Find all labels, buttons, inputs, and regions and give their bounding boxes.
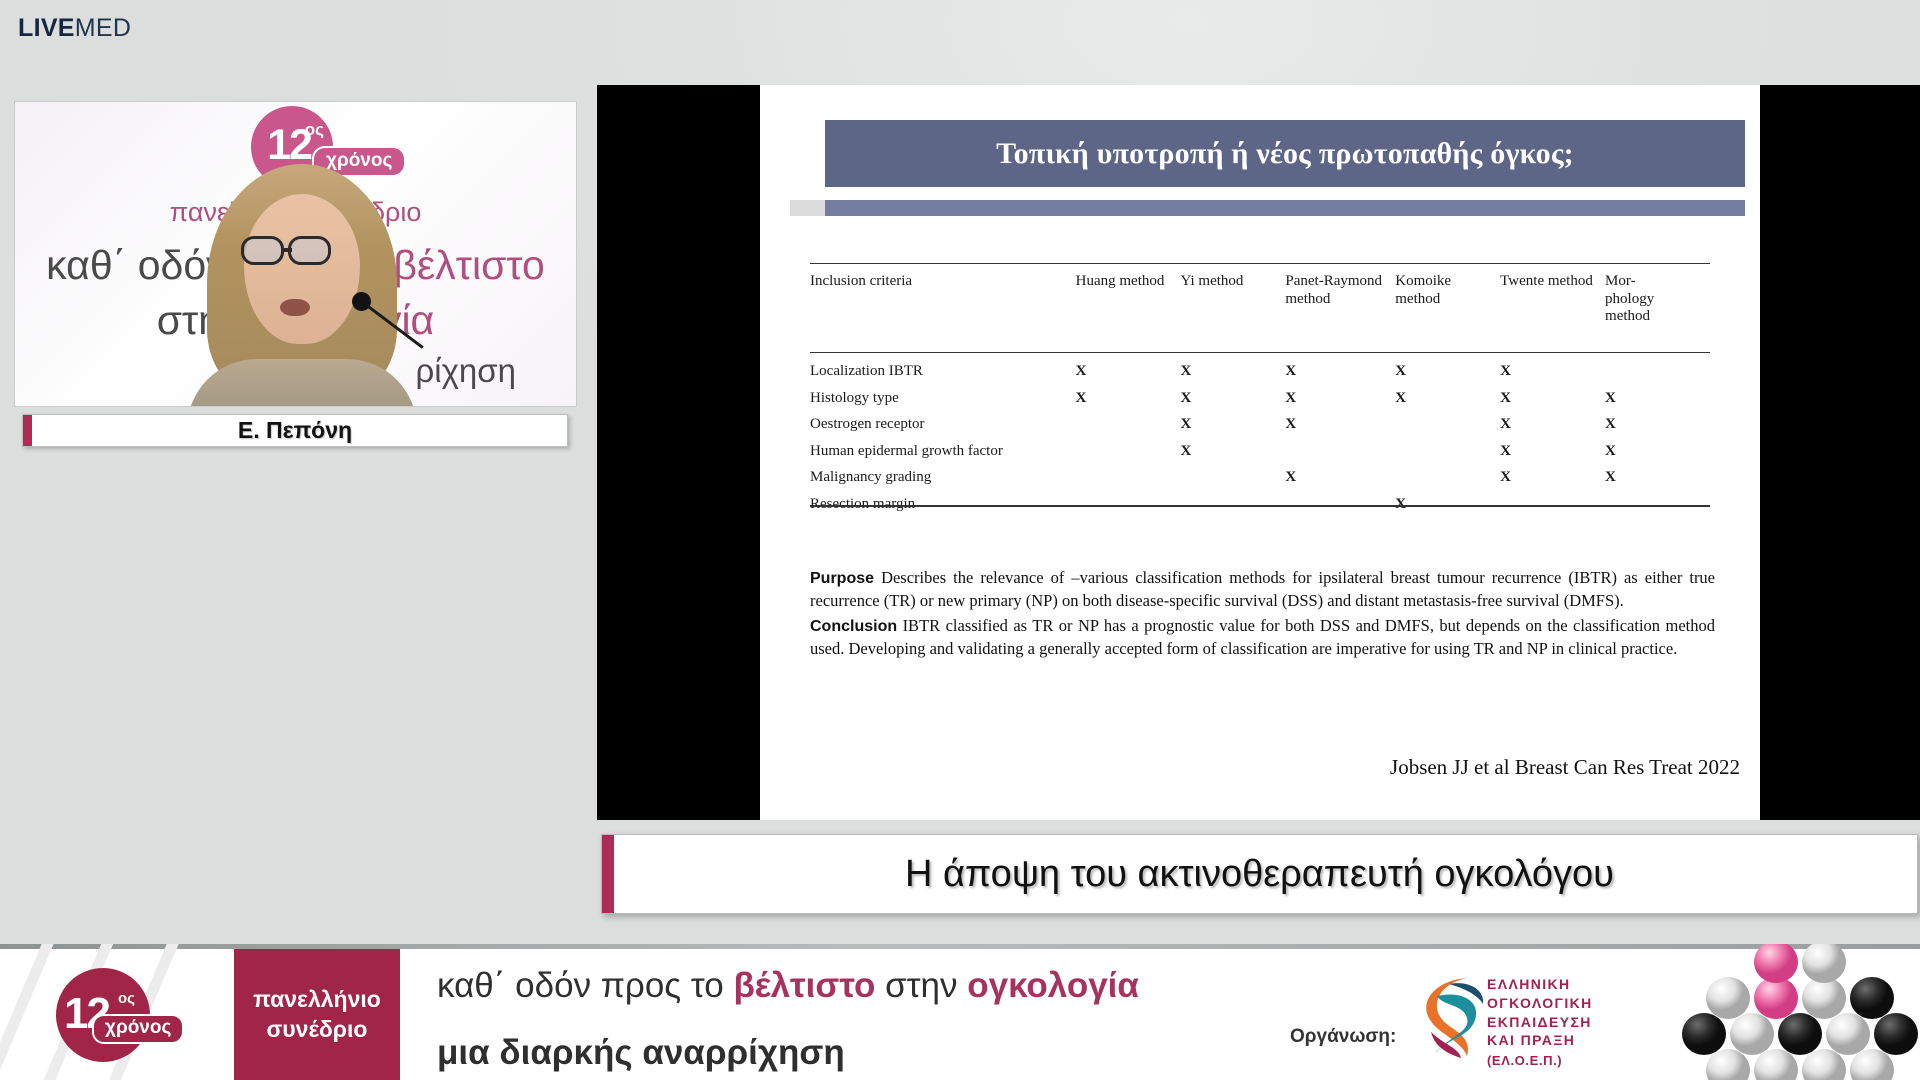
table-mark-x: X <box>1181 443 1192 459</box>
abstract-conclusion: Conclusion IBTR classified as TR or NP h… <box>810 615 1715 661</box>
study-table-wrapper: Inclusion criteria Huang method Yi metho… <box>810 263 1710 521</box>
table-col-header-1: Huang method <box>1076 264 1181 353</box>
eloep-line-4: ΚΑΙ ΠΡΑΞΗ <box>1487 1031 1593 1050</box>
badge-superscript: ος <box>305 120 324 140</box>
footer-tagline-1c: στην <box>875 966 967 1005</box>
eloep-line-3: ΕΚΠΑΙΔΕΥΣΗ <box>1487 1013 1593 1032</box>
table-cell-mark: X <box>1605 464 1710 491</box>
table-cell-criteria: Human epidermal growth factor <box>810 438 1076 465</box>
conclusion-label: Conclusion <box>810 618 897 635</box>
table-mark-x: X <box>1285 390 1296 406</box>
table-cell-mark <box>1076 464 1181 491</box>
table-cell-mark: X <box>1076 385 1181 412</box>
eloep-line-2: ΟΓΚΟΛΟΓΙΚΗ <box>1487 994 1593 1013</box>
footer-congress-line-2: συνέδριο <box>267 1017 368 1042</box>
speaker-name-plate: Ε. Πεπόνη <box>22 414 568 447</box>
table-cell-mark: X <box>1285 385 1395 412</box>
table-row: Malignancy gradingXXX <box>810 464 1710 491</box>
footer-banner: 12 ος χρόνος πανελλήνιο συνέδριο καθ΄ οδ… <box>0 944 1920 1080</box>
table-cell-mark: X <box>1605 411 1710 438</box>
table-mark-x: X <box>1285 363 1296 379</box>
table-cell-mark: X <box>1285 411 1395 438</box>
table-cell-mark: X <box>1500 411 1605 438</box>
table-mark-x: X <box>1500 469 1511 485</box>
logo-med-text: MED <box>75 14 131 42</box>
slide-stage[interactable]: Τοπική υποτροπή ή νέος πρωτοπαθής όγκος;… <box>597 85 1920 820</box>
speaker-name-text: Ε. Πεπόνη <box>238 417 352 444</box>
study-table: Inclusion criteria Huang method Yi metho… <box>810 263 1710 521</box>
table-cell-mark: X <box>1181 353 1286 385</box>
table-cell-mark: X <box>1181 438 1286 465</box>
table-cell-mark <box>1395 464 1500 491</box>
table-cell-mark: X <box>1076 353 1181 385</box>
table-cell-mark: X <box>1500 353 1605 385</box>
table-bottom-rule <box>810 505 1710 507</box>
table-cell-mark <box>1395 438 1500 465</box>
table-cell-mark: X <box>1605 385 1710 412</box>
eyeglasses-bridge-icon <box>284 248 292 252</box>
table-cell-mark <box>1285 438 1395 465</box>
speaker-video-frame: πανελλήνιο συνέδριο καθ΄ οδόν προς το βέ… <box>15 102 576 406</box>
table-col-header-6: Mor-phologymethod <box>1605 264 1710 353</box>
table-row: Oestrogen receptorXXXX <box>810 411 1710 438</box>
table-mark-x: X <box>1500 416 1511 432</box>
table-col-header-2: Yi method <box>1181 264 1286 353</box>
table-mark-x: X <box>1076 363 1087 379</box>
table-cell-mark: X <box>1500 385 1605 412</box>
table-mark-x: X <box>1285 469 1296 485</box>
table-col-header-4: Komoikemethod <box>1395 264 1500 353</box>
table-cell-mark: X <box>1181 385 1286 412</box>
purpose-label: Purpose <box>810 570 874 587</box>
footer-tagline: καθ΄ οδόν προς το βέλτιστο στην ογκολογί… <box>437 966 1247 1073</box>
footer-spheres-graphic <box>1610 944 1920 1080</box>
table-cell-criteria: Malignancy grading <box>810 464 1076 491</box>
eloep-line-1: ΕΛΛΗΝΙΚΗ <box>1487 975 1593 994</box>
microphone-icon <box>352 292 371 311</box>
abstract-block: Purpose Describes the relevance of –vari… <box>810 567 1715 661</box>
conclusion-text: IBTR classified as TR or NP has a progno… <box>810 616 1715 658</box>
table-cell-mark <box>1395 411 1500 438</box>
study-table-body: Localization IBTRXXXXXHistology typeXXXX… <box>810 353 1710 522</box>
table-cell-mark: X <box>1181 411 1286 438</box>
footer-organizer-label: Οργάνωση: <box>1290 1026 1396 1048</box>
table-mark-x: X <box>1500 443 1511 459</box>
table-mark-x: X <box>1395 496 1406 512</box>
presenter-figure <box>187 164 417 406</box>
presentation-slide: Τοπική υποτροπή ή νέος πρωτοπαθής όγκος;… <box>760 85 1760 820</box>
footer-tagline-line-2: μια διαρκής αναρρίχηση <box>437 1033 1247 1073</box>
eyeglasses-right-lens-icon <box>288 236 331 265</box>
table-cell-mark: X <box>1500 464 1605 491</box>
footer-tagline-1b: βέλτιστο <box>733 966 875 1005</box>
table-mark-x: X <box>1605 443 1616 459</box>
table-cell-criteria: Histology type <box>810 385 1076 412</box>
footer-badge-superscript: ος <box>118 990 135 1007</box>
table-mark-x: X <box>1605 390 1616 406</box>
table-mark-x: X <box>1500 390 1511 406</box>
footer-congress-block: πανελλήνιο συνέδριο <box>234 949 400 1080</box>
eyeglasses-left-lens-icon <box>241 236 284 265</box>
footer-tagline-1a: καθ΄ οδόν προς το <box>437 966 733 1005</box>
table-cell-mark: X <box>1395 385 1500 412</box>
table-cell-criteria: Oestrogen receptor <box>810 411 1076 438</box>
table-row: Histology typeXXXXXX <box>810 385 1710 412</box>
table-mark-x: X <box>1076 390 1087 406</box>
slide-title-text: Τοπική υποτροπή ή νέος πρωτοπαθής όγκος; <box>996 137 1574 171</box>
table-mark-x: X <box>1395 390 1406 406</box>
table-mark-x: X <box>1285 416 1296 432</box>
presenter-face <box>244 194 360 344</box>
lower-third-title-bar: Η άποψη του ακτινοθεραπευτή ογκολόγου <box>601 834 1918 914</box>
eloep-line-5: (ΕΛ.Ο.Ε.Π.) <box>1487 1052 1593 1069</box>
table-col-header-3: Panet-Raymondmethod <box>1285 264 1395 353</box>
footer-congress-line-1: πανελλήνιο <box>253 987 381 1012</box>
table-header-row: Inclusion criteria Huang method Yi metho… <box>810 264 1710 353</box>
table-mark-x: X <box>1605 469 1616 485</box>
slide-title-bar: Τοπική υποτροπή ή νέος πρωτοπαθής όγκος; <box>825 120 1745 187</box>
footer-tagline-1d: ογκολογία <box>967 966 1139 1005</box>
table-col-header-5: Twente method <box>1500 264 1605 353</box>
table-cell-criteria: Localization IBTR <box>810 353 1076 385</box>
footer-badge-chronos-pill: χρόνος <box>92 1014 184 1044</box>
table-mark-x: X <box>1181 363 1192 379</box>
table-cell-mark: X <box>1605 438 1710 465</box>
table-cell-mark <box>1076 438 1181 465</box>
eloep-wordmark: ΕΛΛΗΝΙΚΗ ΟΓΚΟΛΟΓΙΚΗ ΕΚΠΑΙΔΕΥΣΗ ΚΑΙ ΠΡΑΞΗ… <box>1487 975 1593 1069</box>
table-row: Localization IBTRXXXXX <box>810 353 1710 385</box>
table-cell-mark <box>1181 464 1286 491</box>
slide-sub-bar <box>825 200 1745 216</box>
lower-third-text: Η άποψη του ακτινοθεραπευτή ογκολόγου <box>905 853 1614 896</box>
table-mark-x: X <box>1395 363 1406 379</box>
speaker-video-panel[interactable]: πανελλήνιο συνέδριο καθ΄ οδόν προς το βέ… <box>14 101 577 407</box>
table-cell-mark: X <box>1500 438 1605 465</box>
table-cell-mark: X <box>1285 464 1395 491</box>
table-mark-x: X <box>1500 363 1511 379</box>
table-mark-x: X <box>1605 416 1616 432</box>
livemed-logo[interactable]: LIVEMED <box>18 16 131 41</box>
study-table-head: Inclusion criteria Huang method Yi metho… <box>810 264 1710 353</box>
table-row: Human epidermal growth factorXXX <box>810 438 1710 465</box>
table-cell-mark: X <box>1285 353 1395 385</box>
table-cell-mark: X <box>1395 353 1500 385</box>
table-mark-x: X <box>1181 416 1192 432</box>
purpose-text: Describes the relevance of –various clas… <box>810 568 1715 610</box>
table-cell-mark <box>1076 411 1181 438</box>
table-col-header-0: Inclusion criteria <box>810 264 1076 353</box>
table-cell-mark <box>1605 353 1710 385</box>
backdrop-line-4: ρίχηση <box>416 352 517 390</box>
footer-tagline-line-1: καθ΄ οδόν προς το βέλτιστο στην ογκολογί… <box>437 966 1247 1006</box>
logo-live-text: LIVE <box>18 14 75 42</box>
screen-root: LIVEMED πανελλήνιο συνέδριο καθ΄ οδόν πρ… <box>0 0 1920 1080</box>
slide-citation: Jobsen JJ et al Breast Can Res Treat 202… <box>1390 755 1740 780</box>
presenter-mouth <box>280 299 310 316</box>
abstract-purpose: Purpose Describes the relevance of –vari… <box>810 567 1715 613</box>
table-mark-x: X <box>1181 390 1192 406</box>
